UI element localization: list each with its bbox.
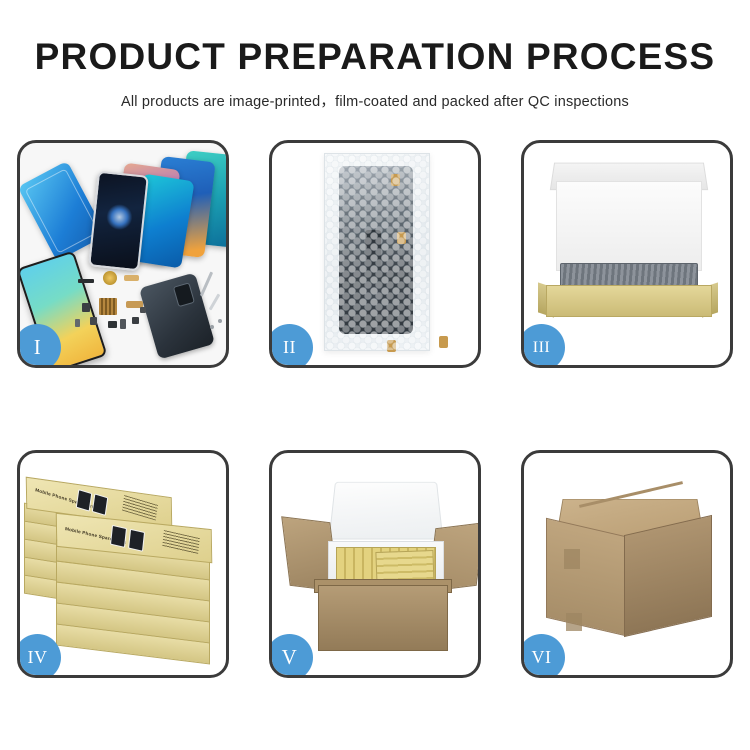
step-badge-2: II <box>269 324 313 368</box>
tweezers-icon <box>200 272 213 297</box>
small-part-icon-5 <box>132 317 139 324</box>
step-badge-5: V <box>269 634 313 678</box>
small-part-icon-3 <box>108 321 117 328</box>
page-subtitle: All products are image-printed，film-coat… <box>0 90 750 111</box>
earpiece-part-icon <box>78 279 94 283</box>
tape-tab-4 <box>439 336 448 348</box>
small-part-icon-4 <box>120 319 126 329</box>
step-panel-2: II <box>269 140 481 368</box>
product-preparation-infographic: PRODUCT PREPARATION PROCESS All products… <box>0 0 750 750</box>
box-phone-graphic <box>128 529 145 552</box>
speaker-part-icon <box>103 271 117 285</box>
carton-tape-upper <box>564 549 580 569</box>
step-badge-4: IV <box>17 634 61 678</box>
kraft-box-base <box>546 285 712 317</box>
step-panel-6: VI <box>521 450 733 678</box>
small-part-icon-1 <box>82 303 90 312</box>
step-panel-4: Mobile Phone Spare Parts Mobile Phone Sp… <box>17 450 229 678</box>
screwdriver-icon <box>209 293 221 310</box>
bubble-texture-overlay <box>325 154 429 350</box>
step-panel-1: I <box>17 140 229 368</box>
box-spec-text-block <box>162 530 200 555</box>
step-badge-1: I <box>17 324 61 368</box>
small-part-icon-6 <box>140 307 146 313</box>
screw-icon-1 <box>210 325 214 329</box>
small-part-icon-7 <box>75 319 80 327</box>
carton-left-panel <box>546 518 626 636</box>
step-panel-3: III <box>521 140 733 368</box>
screw-icon-2 <box>218 319 222 323</box>
step-panel-5: V <box>269 450 481 678</box>
box-phone-graphic <box>92 493 109 516</box>
phone-screen-front-glass <box>88 171 149 272</box>
carton-front-panel <box>318 585 448 651</box>
box-phone-graphic <box>110 525 127 548</box>
styrofoam-lid <box>329 482 444 540</box>
small-part-icon-2 <box>90 317 97 325</box>
bubble-wrap-bag <box>324 153 430 351</box>
box-phone-graphic <box>76 489 93 512</box>
header: PRODUCT PREPARATION PROCESS All products… <box>0 0 750 111</box>
flex-cable-part-icon <box>124 275 139 281</box>
chip-part-icon <box>99 298 117 315</box>
step-badge-6: VI <box>521 634 565 678</box>
process-steps-grid: I II <box>17 140 733 678</box>
carton-right-panel <box>624 515 712 637</box>
foam-liner-inner <box>556 181 702 271</box>
step-badge-3: III <box>521 324 565 368</box>
page-title: PRODUCT PREPARATION PROCESS <box>0 38 750 75</box>
carton-tape-lower <box>566 613 582 631</box>
box-spec-text-block <box>122 495 158 521</box>
